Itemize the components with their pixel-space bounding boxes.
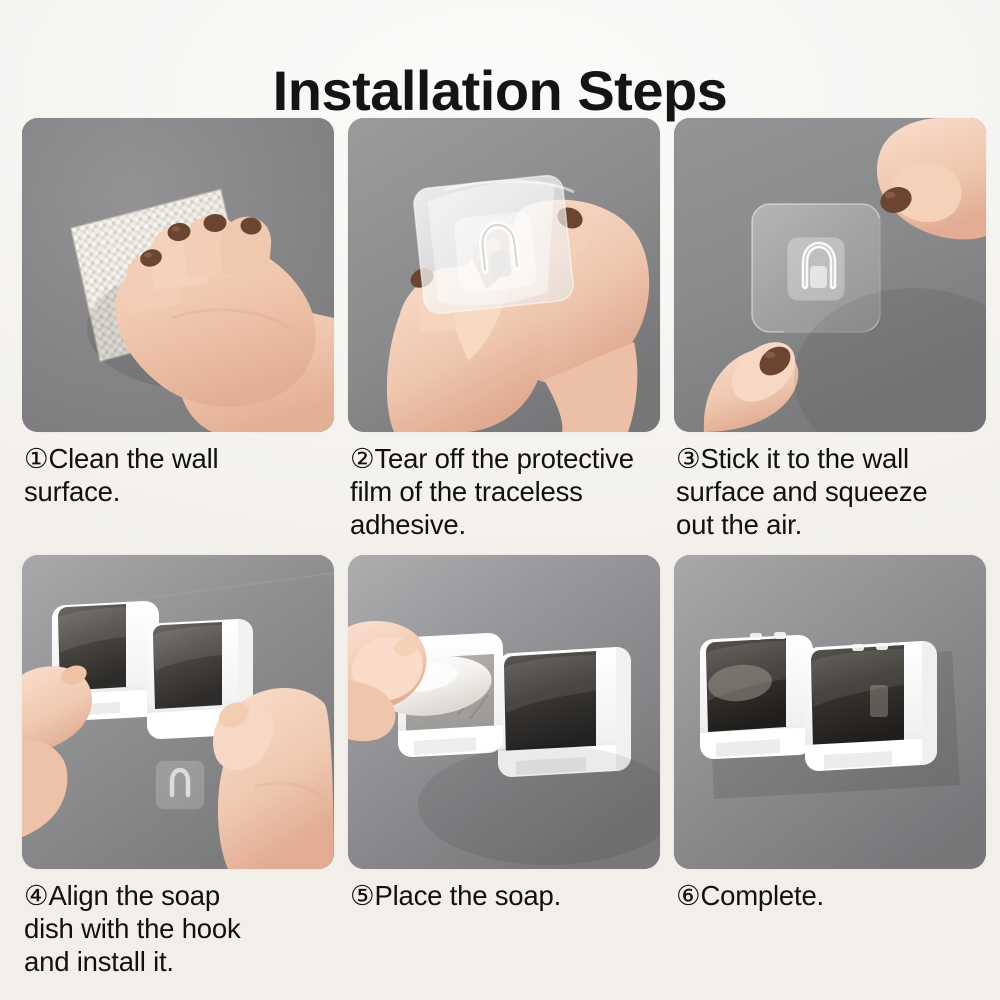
hand-wiping-wall-with-cloth-illustration — [22, 118, 334, 432]
step-caption-4: ④Align the soap dish with the hook and i… — [22, 879, 334, 978]
step-photo-4 — [22, 555, 334, 869]
step-item-6: ⑥Complete. — [674, 541, 986, 978]
step-caption-3: ③Stick it to the wall surface and squeez… — [674, 442, 986, 541]
installation-steps-page: Installation Steps — [0, 0, 1000, 1000]
installed-double-soap-dish-on-wall-illustration — [674, 555, 986, 869]
hand-placing-soap-bar-in-dish-illustration — [348, 555, 660, 869]
step-caption-6: ⑥Complete. — [674, 879, 986, 912]
hands-mounting-soap-dish-on-hook-illustration — [22, 555, 334, 869]
step-photo-6 — [674, 555, 986, 869]
step-caption-5: ⑤Place the soap. — [348, 879, 660, 912]
fingers-pressing-adhesive-hook-on-wall-illustration — [674, 118, 986, 432]
step-item-5: ⑤Place the soap. — [348, 541, 660, 978]
step-photo-1 — [22, 118, 334, 432]
step-item-3: ③Stick it to the wall surface and squeez… — [674, 118, 986, 541]
step-photo-5 — [348, 555, 660, 869]
steps-grid: ①Clean the wall surface. — [22, 118, 980, 978]
step-item-1: ①Clean the wall surface. — [22, 118, 334, 541]
step-item-2: ②Tear off the protective film of the tra… — [348, 118, 660, 541]
step-photo-2 — [348, 118, 660, 432]
hands-peeling-film-from-adhesive-hook-illustration — [348, 118, 660, 432]
step-caption-1: ①Clean the wall surface. — [22, 442, 334, 508]
step-caption-2: ②Tear off the protective film of the tra… — [348, 442, 660, 541]
page-title: Installation Steps — [0, 60, 1000, 122]
step-item-4: ④Align the soap dish with the hook and i… — [22, 541, 334, 978]
step-photo-3 — [674, 118, 986, 432]
